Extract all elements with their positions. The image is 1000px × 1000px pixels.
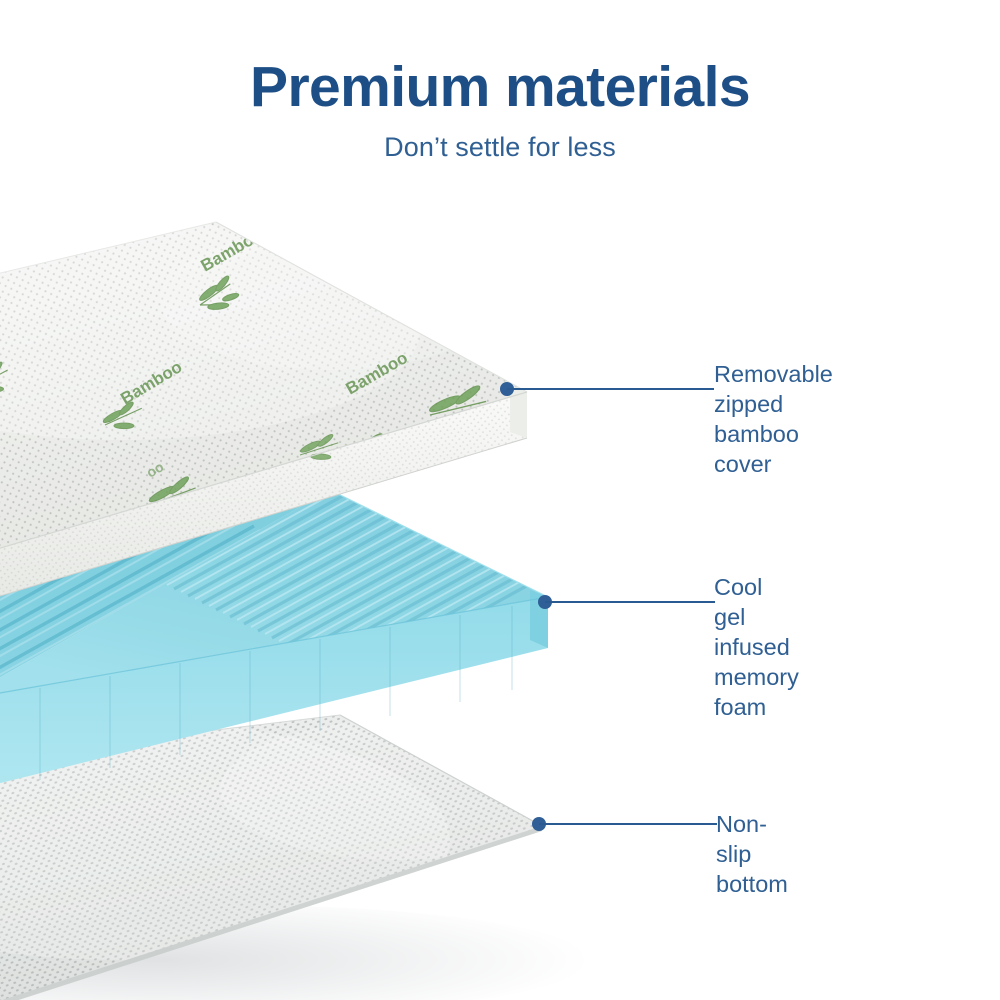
- callout-label: Cool gel infused memory foam: [714, 572, 799, 722]
- callout-label: Non-slip bottom: [716, 809, 788, 899]
- callout-leader-line: [545, 601, 715, 603]
- product-exploded-illustration: Bamboo Bamboo Bamboo Bamboo oo Bamboo: [0, 0, 1000, 1000]
- callout-label: Removable zipped bamboo cover: [714, 359, 833, 479]
- infographic-canvas: Premium materials Don’t settle for less: [0, 0, 1000, 1000]
- callout-leader-line: [539, 823, 717, 825]
- callout-leader-line: [507, 388, 714, 390]
